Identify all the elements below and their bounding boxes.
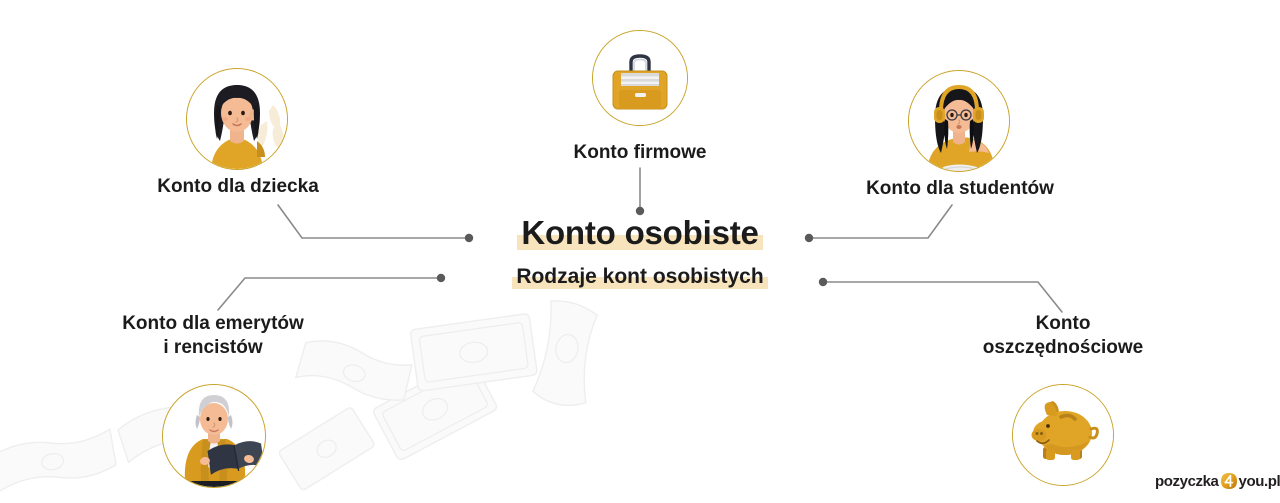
senior-avatar-icon — [162, 384, 266, 488]
node-label-konto-firmowe: Konto firmowe — [480, 141, 800, 165]
infographic-canvas: Konto osobiste Rodzaje kont osobistych — [0, 0, 1280, 503]
center-title-text: Konto osobiste — [521, 214, 758, 251]
logo-suffix: you.pl — [1239, 474, 1280, 489]
piggy-bank-icon — [1012, 384, 1114, 486]
student-avatar-icon — [908, 70, 1010, 172]
node-label-konto-dla-dziecka: Konto dla dziecka — [78, 175, 398, 199]
child-avatar-icon — [186, 68, 288, 170]
node-label-konto-dla-studentow: Konto dla studentów — [800, 177, 1120, 201]
center-title-container: Konto osobiste — [0, 214, 1280, 252]
node-label-konto-oszczednosciowe: Konto oszczędnościowe — [908, 312, 1218, 360]
center-subtitle-container: Rodzaje kont osobistych — [0, 264, 1280, 290]
center-subtitle: Rodzaje kont osobistych — [512, 264, 767, 290]
node-label-konto-dla-emerytow: Konto dla emerytów i rencistów — [58, 312, 368, 360]
logo-prefix: pozyczka — [1155, 474, 1219, 489]
briefcase-icon — [592, 30, 688, 126]
site-logo[interactable]: pozyczka you.pl — [1155, 468, 1280, 494]
logo-four-badge — [1218, 470, 1240, 492]
center-subtitle-text: Rodzaje kont osobistych — [516, 265, 763, 288]
center-title: Konto osobiste — [517, 214, 762, 252]
